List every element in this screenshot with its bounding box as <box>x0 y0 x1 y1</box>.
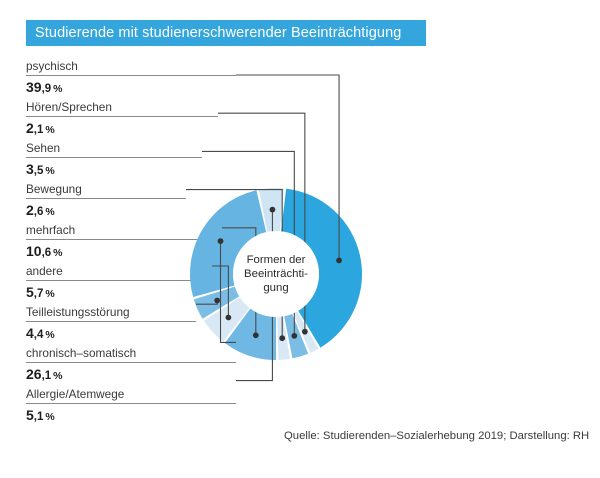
donut-center-label: Formen derBeeinträchti-gung <box>233 231 319 317</box>
leader-dot <box>253 332 259 338</box>
center-label-line: gung <box>263 282 288 294</box>
leader-dot <box>270 207 276 213</box>
leader-dot <box>214 298 220 304</box>
donut-chart: Formen derBeeinträchti-gung <box>0 0 600 478</box>
leader-dot <box>336 257 342 263</box>
source-note: Quelle: Studierenden–Sozialerhebung 2019… <box>284 430 589 442</box>
leader-dot <box>302 329 308 335</box>
leader-dot <box>218 238 224 244</box>
center-label-line: Beeinträchti- <box>244 268 308 280</box>
leader-dot <box>279 335 285 341</box>
center-label-line: Formen der <box>247 254 306 266</box>
leader-dot <box>225 315 231 321</box>
leader-dot <box>291 333 297 339</box>
infographic-canvas: Studierende mit studienerschwerender Bee… <box>0 0 600 478</box>
